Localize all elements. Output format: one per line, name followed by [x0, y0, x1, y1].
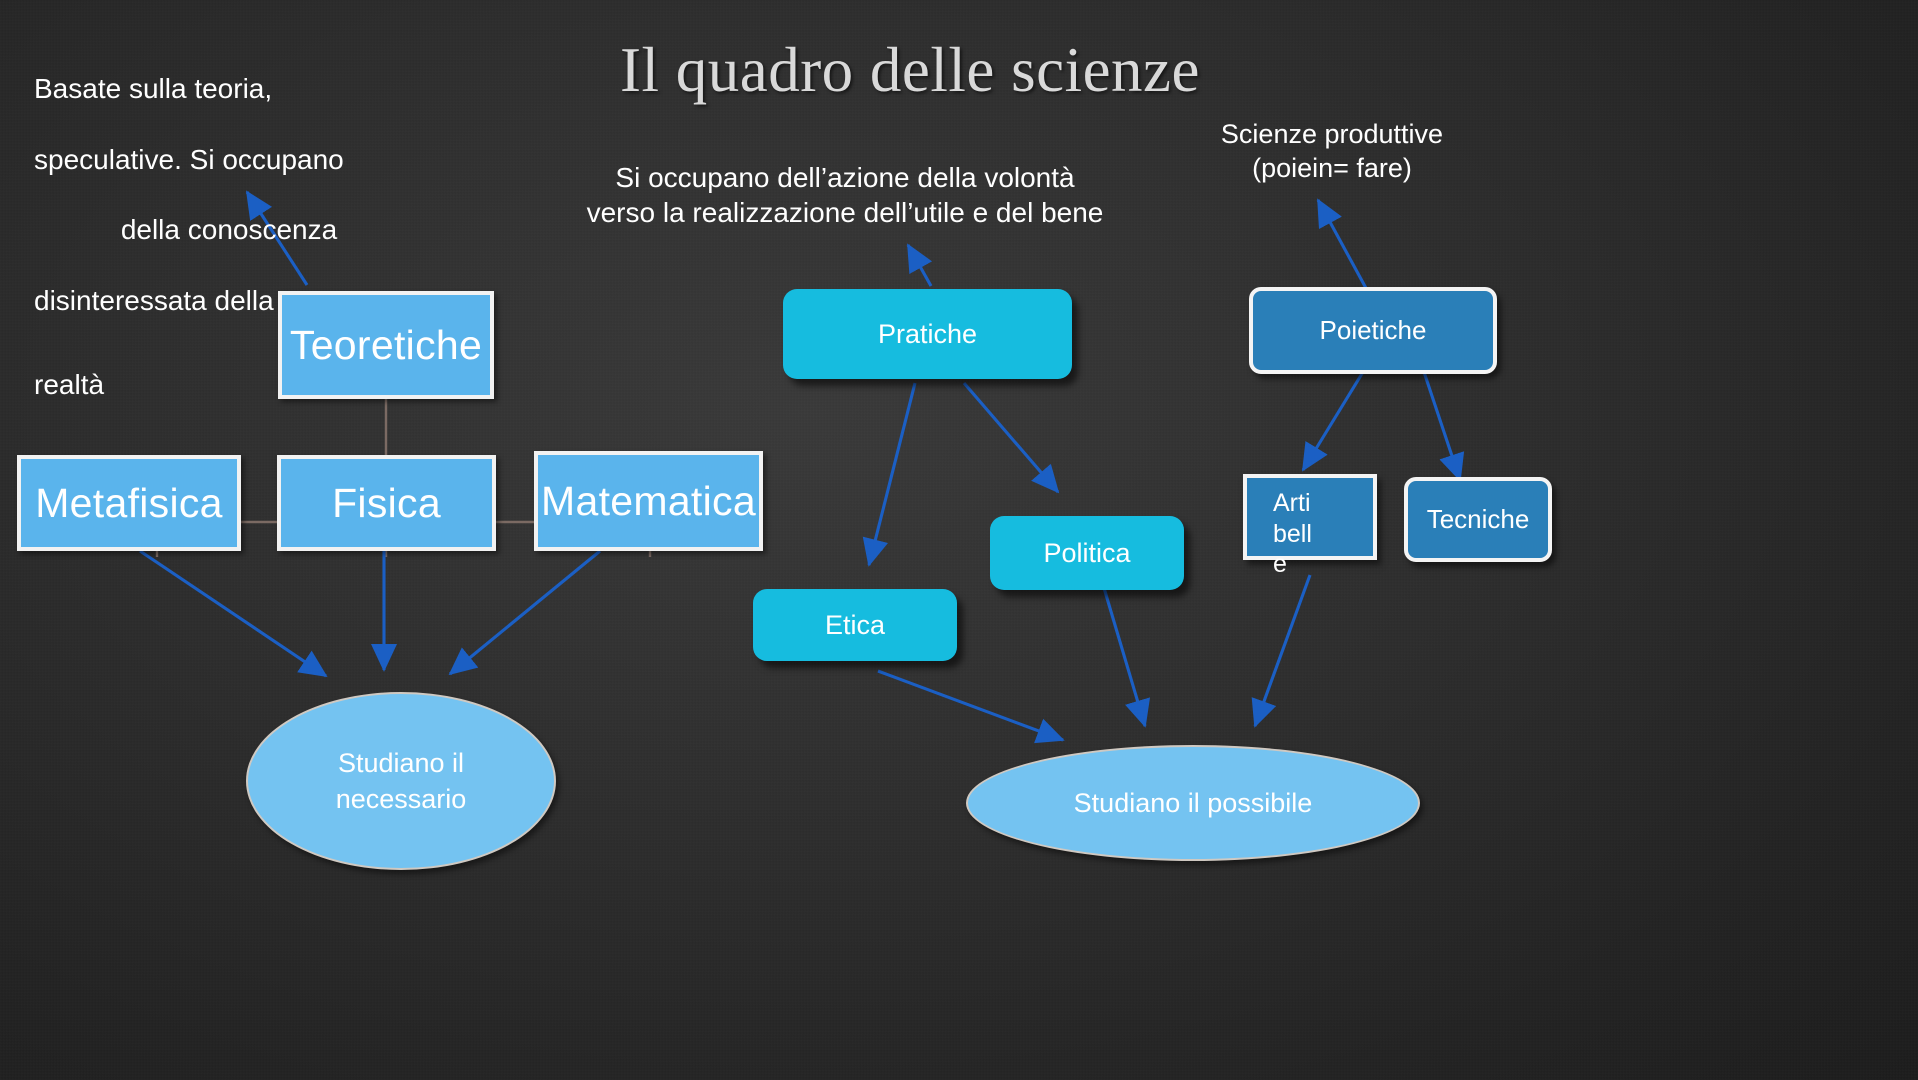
node-metafisica[interactable]: Metafisica [17, 455, 241, 551]
node-arti-belle[interactable]: Arti bell e [1243, 474, 1377, 560]
node-tecniche-label: Tecniche [1427, 504, 1530, 535]
node-tecniche[interactable]: Tecniche [1404, 477, 1552, 562]
caption-left: Basate sulla teoria, speculative. Si occ… [34, 36, 424, 438]
caption-left-line-4: disinteressata della [34, 283, 424, 318]
caption-left-line-1: Basate sulla teoria, [34, 71, 424, 106]
node-poietiche-label: Poietiche [1320, 315, 1427, 346]
arrow-metafisica-to-ellipse-left [140, 551, 326, 676]
node-etica[interactable]: Etica [753, 589, 957, 661]
slide-title: Il quadro delle scienze [480, 34, 1340, 107]
node-fisica[interactable]: Fisica [277, 455, 496, 551]
arrow-pratiche-to-caption-mid [908, 245, 931, 286]
arrow-pratiche-to-etica [869, 383, 915, 565]
caption-middle: Si occupano dell’azione della volontà ve… [575, 160, 1115, 231]
ellipse-left-label: Studiano il necessario [336, 745, 467, 818]
slide-canvas: Il quadro delle scienze Basate sulla teo… [0, 0, 1918, 1080]
ellipse-studiano-il-possibile[interactable]: Studiano il possibile [966, 745, 1420, 861]
ellipse-studiano-il-necessario[interactable]: Studiano il necessario [246, 692, 556, 870]
arrow-pratiche-to-politica [964, 383, 1058, 492]
arrow-poietiche-to-arti-belle [1303, 372, 1363, 470]
node-metafisica-label: Metafisica [35, 480, 223, 527]
ellipse-right-label: Studiano il possibile [1074, 785, 1313, 821]
node-pratiche-label: Pratiche [878, 319, 977, 350]
node-matematica[interactable]: Matematica [534, 451, 763, 551]
arrow-poietiche-to-caption-right [1318, 200, 1367, 290]
arrow-matematica-to-ellipse-left [450, 551, 600, 674]
arrow-etica-to-ellipse-right [878, 671, 1063, 740]
arrow-arti-belle-to-ellipse-right [1255, 575, 1310, 726]
node-politica[interactable]: Politica [990, 516, 1184, 590]
node-poietiche[interactable]: Poietiche [1249, 287, 1497, 374]
caption-right: Scienze produttive (poiein= fare) [1172, 117, 1492, 185]
node-fisica-label: Fisica [332, 480, 441, 527]
node-matematica-label: Matematica [541, 478, 756, 525]
node-pratiche[interactable]: Pratiche [783, 289, 1072, 379]
node-arti-belle-label: Arti bell e [1273, 488, 1312, 580]
node-etica-label: Etica [825, 610, 885, 641]
node-politica-label: Politica [1043, 538, 1130, 569]
caption-left-line-5: realtà [34, 367, 424, 402]
caption-left-line-2: speculative. Si occupano [34, 142, 424, 177]
arrow-politica-to-ellipse-right [1104, 588, 1145, 726]
caption-left-line-3: della conoscenza [34, 212, 424, 247]
arrow-poietiche-to-tecniche [1424, 372, 1460, 480]
